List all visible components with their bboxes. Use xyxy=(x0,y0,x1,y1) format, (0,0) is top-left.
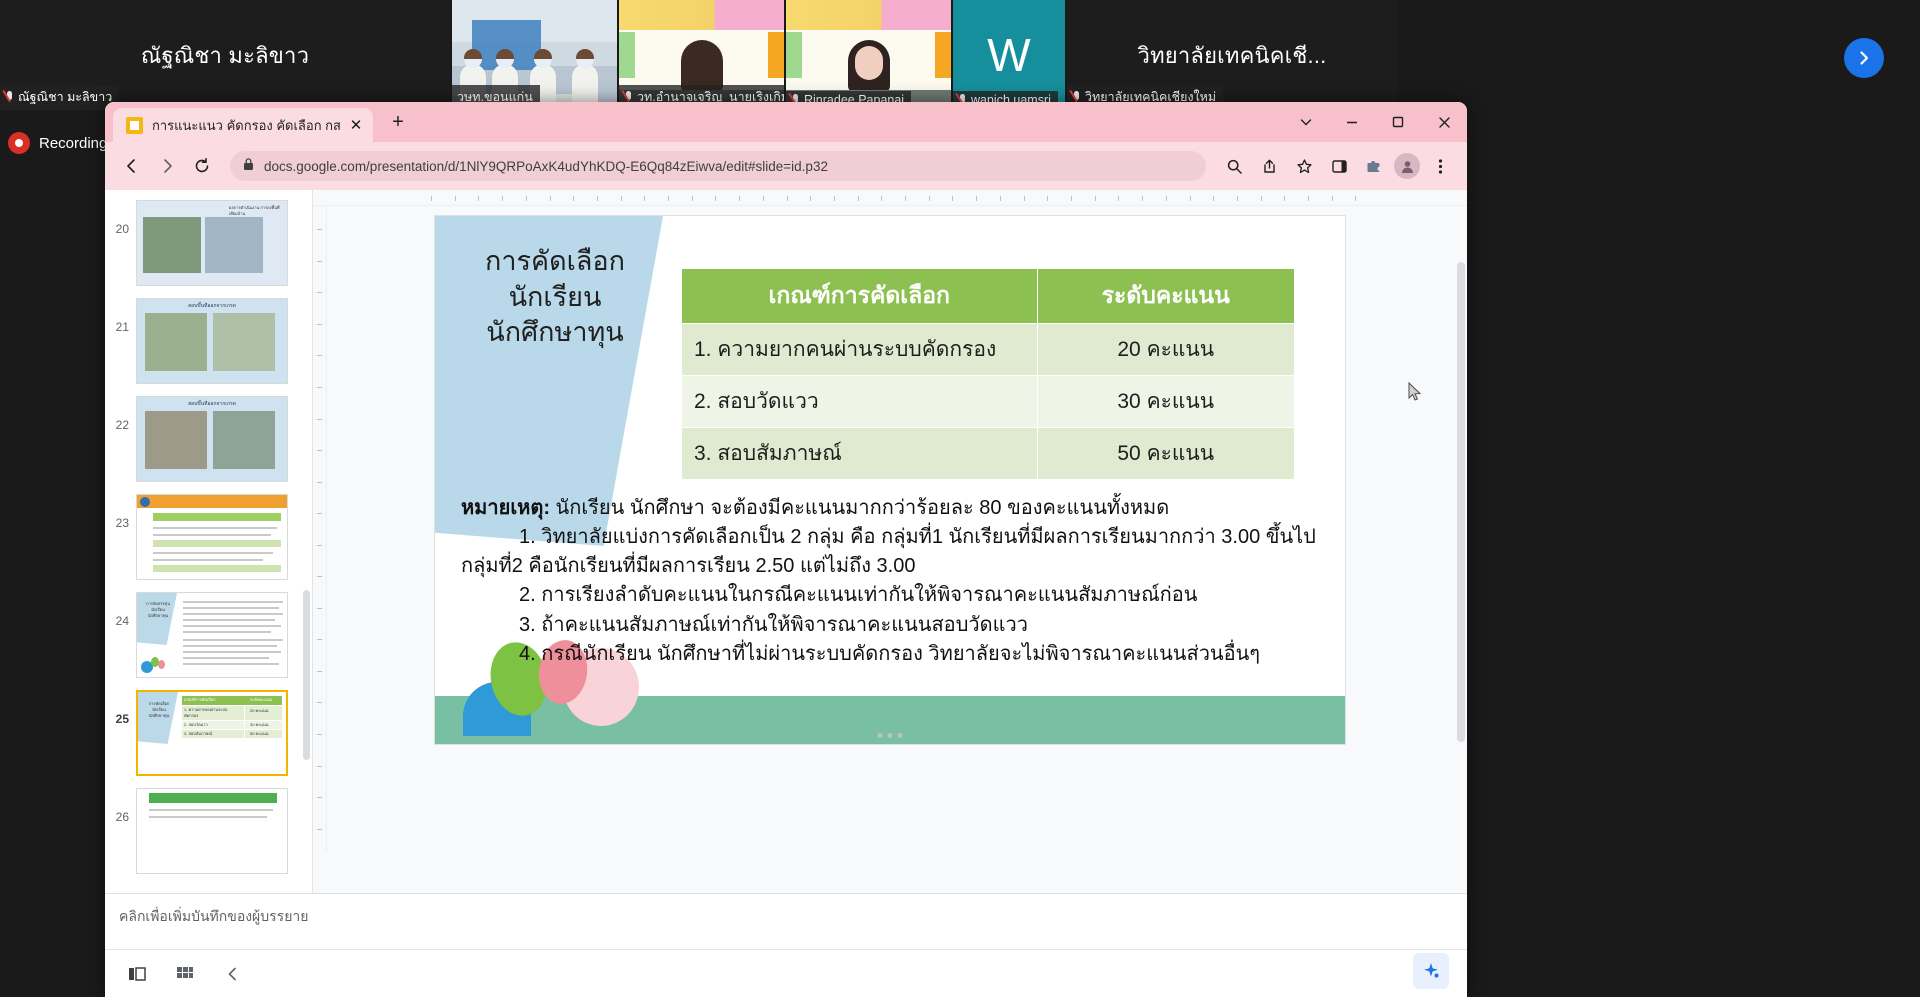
google-slides-app: 20 ผลการดำเนินงาน การลงพื้นที่เยี่ยมบ้าน… xyxy=(105,190,1467,997)
video-tile-display-name: วิทยาลัยเทคนิคเชี... xyxy=(1138,38,1327,73)
video-tile-3[interactable]: วท.อำนาจเจริญ_นายเริงเกิม... xyxy=(619,0,784,110)
recording-label: Recording xyxy=(39,135,107,152)
bullet-1: 1. วิทยาลัยแบ่งการคัดเลือกเป็น 2 กลุ่ม ค… xyxy=(461,523,1321,580)
slide-number: 26 xyxy=(109,788,129,824)
filmstrip-view-icon[interactable] xyxy=(117,958,157,990)
recording-indicator: Recording xyxy=(8,132,107,154)
close-icon[interactable] xyxy=(1421,102,1467,142)
table-row: 3. สอบสัมภาษณ์ 50 คะแนน xyxy=(682,428,1295,480)
speaker-notes-field[interactable]: คลิกเพื่อเพิ่มบันทึกของผู้บรรยาย xyxy=(105,893,1467,949)
slides-favicon xyxy=(126,117,143,134)
slide-thumbnail[interactable] xyxy=(136,494,288,580)
slide-thumbnail[interactable]: สอบขึ้นทีออกจากเกรด xyxy=(136,396,288,482)
slide-number: 21 xyxy=(109,298,129,334)
slide-thumb-row-23[interactable]: 23 xyxy=(105,488,312,586)
video-tile-5[interactable]: W wanich uamsri xyxy=(953,0,1065,110)
slide-number: 20 xyxy=(109,200,129,236)
window-controls xyxy=(1283,102,1467,142)
slide-number: 22 xyxy=(109,396,129,432)
filmstrip-scrollbar[interactable] xyxy=(303,590,310,760)
search-zoom-icon[interactable] xyxy=(1219,151,1249,181)
table-cell-criteria: 2. สอบวัดแวว xyxy=(682,376,1038,428)
criteria-table[interactable]: เกณฑ์การคัดเลือก ระดับคะแนน 1. ความยากคน… xyxy=(681,268,1295,480)
explore-sparkle-icon[interactable] xyxy=(1413,953,1449,989)
slide-thumbnail[interactable]: สอบขึ้นทีออกจากเกรด xyxy=(136,298,288,384)
current-slide[interactable]: การคัดเลือก นักเรียน นักศึกษาทุน เกณฑ์กา… xyxy=(435,216,1345,744)
slide-thumbnail-filmstrip[interactable]: 20 ผลการดำเนินงาน การลงพื้นที่เยี่ยมบ้าน… xyxy=(105,190,313,893)
minimize-icon[interactable] xyxy=(1329,102,1375,142)
slides-bottom-toolbar xyxy=(105,949,1467,997)
mic-muted-icon xyxy=(5,91,14,104)
reload-icon[interactable] xyxy=(187,151,217,181)
avatar-initial: W xyxy=(987,28,1030,82)
bullet-4: 4. กรณีนักเรียน นักศึกษาที่ไม่ผ่านระบบคั… xyxy=(461,640,1321,668)
table-row: 1. ความยากคนผ่านระบบคัดกรอง 20 คะแนน xyxy=(682,324,1295,376)
close-icon[interactable]: ✕ xyxy=(349,116,363,134)
browser-toolbar: docs.google.com/presentation/d/1NlY9QRPo… xyxy=(105,142,1467,190)
plus-icon[interactable]: + xyxy=(385,110,411,136)
video-tile-display-name: ณัฐณิชา มะลิขาว xyxy=(141,38,309,73)
star-icon[interactable] xyxy=(1289,151,1319,181)
table-cell-score: 30 คะแนน xyxy=(1037,376,1294,428)
canvas-scrollbar-thumb[interactable] xyxy=(1457,262,1465,742)
slide-number: 25 xyxy=(109,690,129,726)
slide-body-text[interactable]: หมายเหตุ: นักเรียน นักศึกษา จะต้องมีคะแน… xyxy=(461,494,1321,669)
bullet-3: 3. ถ้าคะแนนสัมภาษณ์เท่ากันให้พิจารณาคะแน… xyxy=(461,611,1321,639)
address-bar-url: docs.google.com/presentation/d/1NlY9QRPo… xyxy=(264,159,828,174)
chrome-browser-window: การแนะแนว คัดกรอง คัดเลือก กสศ 65 ✕ + xyxy=(105,102,1467,997)
browser-tab-strip: การแนะแนว คัดกรอง คัดเลือก กสศ 65 ✕ + xyxy=(105,102,1467,142)
chevron-down-icon[interactable] xyxy=(1283,102,1329,142)
three-dot-menu-icon[interactable] xyxy=(1425,151,1455,181)
slide-title-line-1: การคัดเลือก xyxy=(457,244,653,280)
recording-dot-icon xyxy=(8,132,30,154)
slide-number: 23 xyxy=(109,494,129,530)
slide-page-dots xyxy=(878,733,903,738)
browser-tab[interactable]: การแนะแนว คัดกรอง คัดเลือก กสศ 65 ✕ xyxy=(113,108,373,142)
chevron-right-icon[interactable] xyxy=(1844,38,1884,78)
address-bar[interactable]: docs.google.com/presentation/d/1NlY9QRPo… xyxy=(230,151,1206,181)
extensions-icon[interactable] xyxy=(1359,151,1389,181)
video-tile-4[interactable]: Rinradee Papanai xyxy=(786,0,951,110)
table-header-row: เกณฑ์การคัดเลือก ระดับคะแนน xyxy=(682,269,1295,324)
slide-thumb-row-25[interactable]: 25 การคัดเลือกนักเรียนนักศึกษาทุน xyxy=(105,684,312,782)
video-tile-1[interactable]: ณัฐณิชา มะลิขาว ณัฐณิชา มะลิขาว xyxy=(0,0,450,110)
arrow-left-icon[interactable] xyxy=(117,151,147,181)
note-label: หมายเหตุ: xyxy=(461,497,550,519)
slide-title[interactable]: การคัดเลือก นักเรียน นักศึกษาทุน xyxy=(457,244,653,351)
table-cell-score: 50 คะแนน xyxy=(1037,428,1294,480)
table-cell-criteria: 1. ความยากคนผ่านระบบคัดกรอง xyxy=(682,324,1038,376)
table-header-score: ระดับคะแนน xyxy=(1037,269,1294,324)
bullet-2: 2. การเรียงลำดับคะแนนในกรณีคะแนนเท่ากันใ… xyxy=(461,581,1321,609)
video-tile-label: ณัฐณิชา มะลิขาว xyxy=(0,85,119,110)
slide-title-line-2: นักเรียน xyxy=(457,280,653,316)
share-icon[interactable] xyxy=(1254,151,1284,181)
table-row: 2. สอบวัดแวว 30 คะแนน xyxy=(682,376,1295,428)
browser-tab-title: การแนะแนว คัดกรอง คัดเลือก กสศ 65 xyxy=(152,115,340,136)
slides-body: 20 ผลการดำเนินงาน การลงพื้นที่เยี่ยมบ้าน… xyxy=(105,190,1467,893)
slide-thumb-row-20[interactable]: 20 ผลการดำเนินงาน การลงพื้นที่เยี่ยมบ้าน xyxy=(105,194,312,292)
slide-thumb-row-22[interactable]: 22 สอบขึ้นทีออกจากเกรด xyxy=(105,390,312,488)
slide-number: 24 xyxy=(109,592,129,628)
slide-stage: การคัดเลือก นักเรียน นักศึกษาทุน เกณฑ์กา… xyxy=(313,206,1467,893)
horizontal-ruler xyxy=(313,190,1467,206)
canvas-scrollbar[interactable] xyxy=(1457,210,1465,783)
video-tile-6[interactable]: วิทยาลัยเทคนิคเชี... วิทยาลัยเทคนิคเชียง… xyxy=(1067,0,1397,110)
chevron-left-icon[interactable] xyxy=(213,958,253,990)
slide-thumb-row-21[interactable]: 21 สอบขึ้นทีออกจากเกรด xyxy=(105,292,312,390)
slide-thumbnail[interactable] xyxy=(136,788,288,874)
table-header-criteria: เกณฑ์การคัดเลือก xyxy=(682,269,1038,324)
slide-title-line-3: นักศึกษาทุน xyxy=(457,315,653,351)
side-panel-icon[interactable] xyxy=(1324,151,1354,181)
lock-icon xyxy=(242,157,255,176)
slide-thumb-row-24[interactable]: 24 การจัดสรรทุนนักเรียนนักศึกษาทุน xyxy=(105,586,312,684)
video-tile-2[interactable]: วษท.ขอนแก่น xyxy=(452,0,617,110)
slide-thumb-row-26[interactable]: 26 xyxy=(105,782,312,880)
note-line: หมายเหตุ: นักเรียน นักศึกษา จะต้องมีคะแน… xyxy=(461,494,1321,522)
arrow-right-icon[interactable] xyxy=(152,151,182,181)
zoom-meeting-backdrop: Recording ณัฐณิชา มะลิขาว ณัฐณิชา มะลิขา… xyxy=(0,0,1920,997)
table-cell-score: 20 คะแนน xyxy=(1037,324,1294,376)
avatar[interactable] xyxy=(1394,153,1420,179)
table-cell-criteria: 3. สอบสัมภาษณ์ xyxy=(682,428,1038,480)
slide-thumbnail[interactable]: การจัดสรรทุนนักเรียนนักศึกษาทุน xyxy=(136,592,288,678)
slide-canvas-area: การคัดเลือก นักเรียน นักศึกษาทุน เกณฑ์กา… xyxy=(313,190,1467,893)
grid-view-icon[interactable] xyxy=(165,958,205,990)
slide-thumbnail-selected[interactable]: การคัดเลือกนักเรียนนักศึกษาทุน เกณฑ์การค… xyxy=(136,690,288,776)
note-text: นักเรียน นักศึกษา จะต้องมีคะแนนมากกว่าร้… xyxy=(550,497,1169,519)
slide-thumbnail[interactable]: ผลการดำเนินงาน การลงพื้นที่เยี่ยมบ้าน xyxy=(136,200,288,286)
maximize-icon[interactable] xyxy=(1375,102,1421,142)
